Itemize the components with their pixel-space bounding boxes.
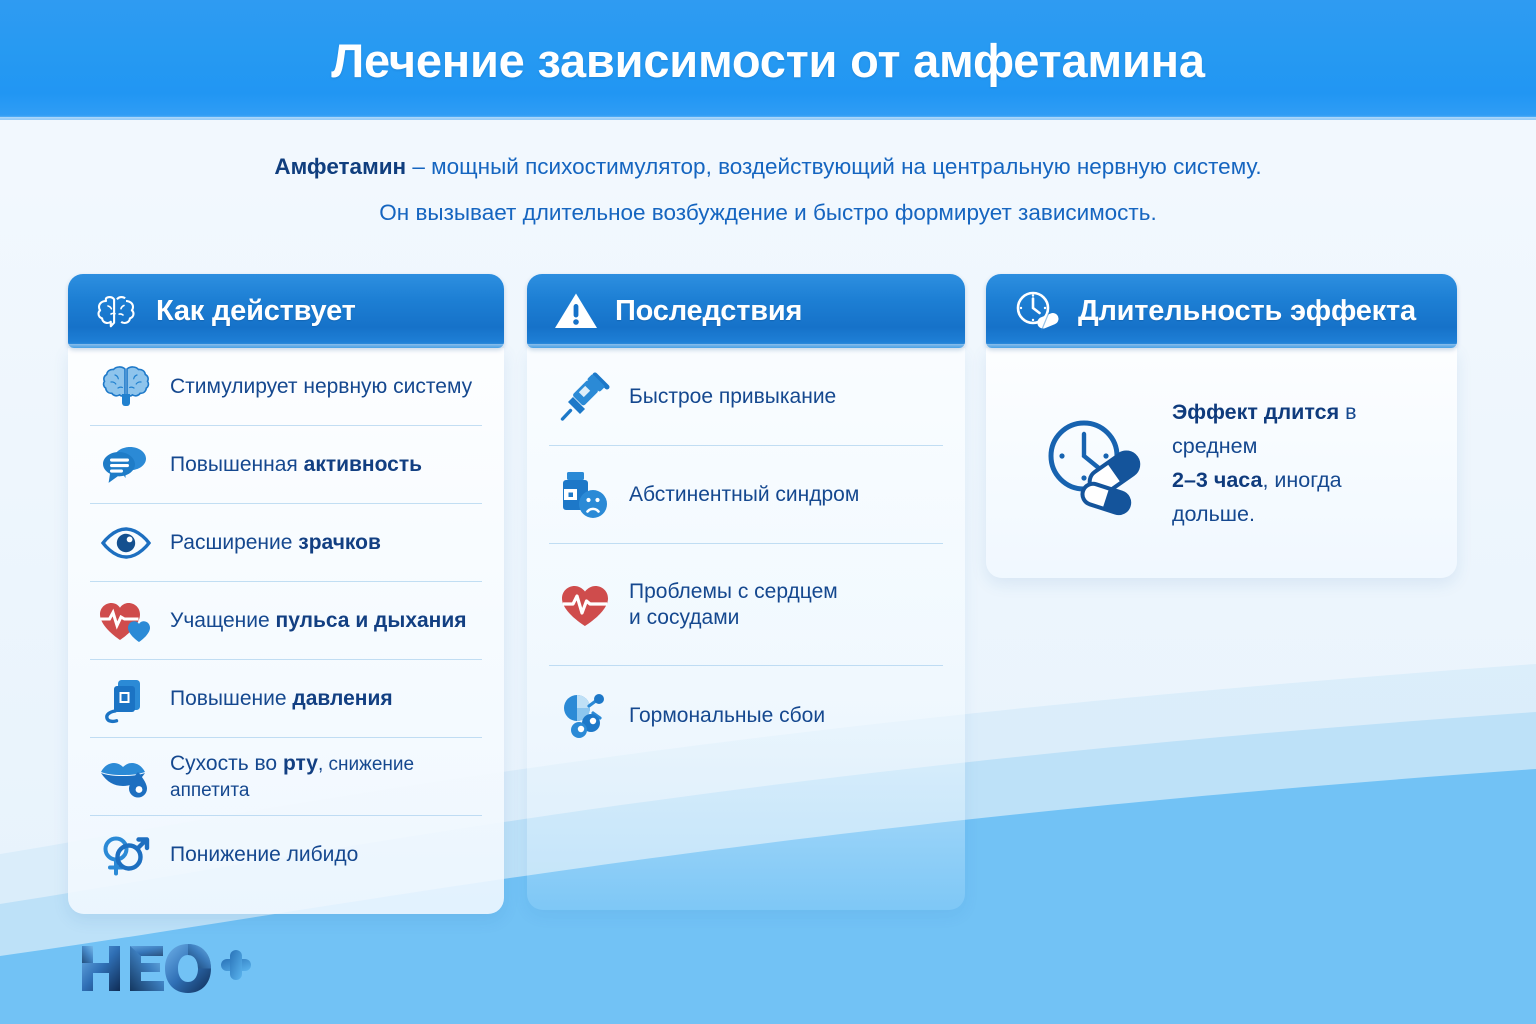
list-item: Быстрое привыкание <box>549 348 943 446</box>
speech-bubbles-icon <box>98 437 154 493</box>
effect-duration-text: Эффект длится в среднем 2–3 часа, иногда… <box>1172 396 1417 532</box>
list-item-label: Стимулирует нервную систему <box>170 374 472 399</box>
heart-pulse-icon <box>557 577 613 633</box>
list-item: Понижение либидо <box>90 816 482 894</box>
warning-triangle-icon <box>553 290 599 332</box>
list-item-label: Гормональные сбои <box>629 703 825 728</box>
clock-pills-icon <box>1012 289 1062 333</box>
hearts-pulse-icon <box>98 593 154 649</box>
lips-drop-icon <box>98 749 154 805</box>
syringe-icon <box>557 369 613 425</box>
eye-icon <box>98 515 154 571</box>
card-how-it-works-body: Стимулирует нервную систему Повышенная а… <box>68 348 504 914</box>
card-effect-duration-body: Эффект длится в среднем 2–3 часа, иногда… <box>986 348 1457 578</box>
hormone-molecule-icon <box>557 688 613 744</box>
effect-duration-content: Эффект длится в среднем 2–3 часа, иногда… <box>1008 348 1435 592</box>
list-item-label: Быстрое привыкание <box>629 384 836 409</box>
list-item-label: Сухость во рту, снижение аппетита <box>170 751 474 803</box>
page-title: Лечение зависимости от амфетамина <box>331 33 1205 88</box>
card-how-it-works-title: Как действует <box>156 295 356 328</box>
list-item-label: Абстинентный синдром <box>629 482 859 507</box>
list-item: Стимулирует нервную систему <box>90 348 482 426</box>
list-item-label: Расширение зрачков <box>170 530 381 555</box>
pill-bottle-sad-icon <box>557 467 613 523</box>
list-item: Сухость во рту, снижение аппетита <box>90 738 482 816</box>
card-effect-duration-title: Длительность эффекта <box>1078 295 1416 328</box>
header-band: Лечение зависимости от амфетамина <box>0 0 1536 120</box>
clock-pills-large-icon <box>1042 414 1150 514</box>
blood-pressure-icon <box>98 671 154 727</box>
list-item: Повышенная активность <box>90 426 482 504</box>
card-effect-duration: Длительность эффекта <box>986 274 1457 578</box>
intro-block: Амфетамин – мощный психостимулятор, возд… <box>0 150 1536 243</box>
card-consequences-body: Быстрое привыкание Абстинентный синдром <box>527 348 965 910</box>
neo-plus-logo <box>78 940 253 998</box>
card-consequences-header: Последствия <box>527 274 965 348</box>
list-item-label: Повышение давления <box>170 686 393 711</box>
list-item: Проблемы с сердцеми сосудами <box>549 544 943 666</box>
card-how-it-works-header: Как действует <box>68 274 504 348</box>
list-item-label: Проблемы с сердцеми сосудами <box>629 579 838 629</box>
intro-line-1: Амфетамин – мощный психостимулятор, возд… <box>0 150 1536 183</box>
brain-icon <box>94 291 140 331</box>
list-item: Расширение зрачков <box>90 504 482 582</box>
card-how-it-works: Как действует Стимулирует нервную систем… <box>68 274 504 914</box>
list-item: Повышение давления <box>90 660 482 738</box>
gender-symbols-icon <box>98 827 154 883</box>
intro-line-2: Он вызывает длительное возбуждение и быс… <box>0 196 1536 229</box>
list-item-label: Повышенная активность <box>170 452 422 477</box>
card-effect-duration-header: Длительность эффекта <box>986 274 1457 348</box>
intro-line-1-rest: – мощный психостимулятор, воздействующий… <box>406 154 1262 179</box>
list-item: Учащение пульса и дыхания <box>90 582 482 660</box>
list-item: Гормональные сбои <box>549 666 943 766</box>
list-item-label: Учащение пульса и дыхания <box>170 608 467 633</box>
card-consequences: Последствия Быстрое привыкание <box>527 274 965 910</box>
list-item: Абстинентный синдром <box>549 446 943 544</box>
card-consequences-title: Последствия <box>615 295 802 328</box>
brain-icon <box>98 359 154 415</box>
list-item-label: Понижение либидо <box>170 842 358 867</box>
intro-keyword: Амфетамин <box>274 154 406 179</box>
